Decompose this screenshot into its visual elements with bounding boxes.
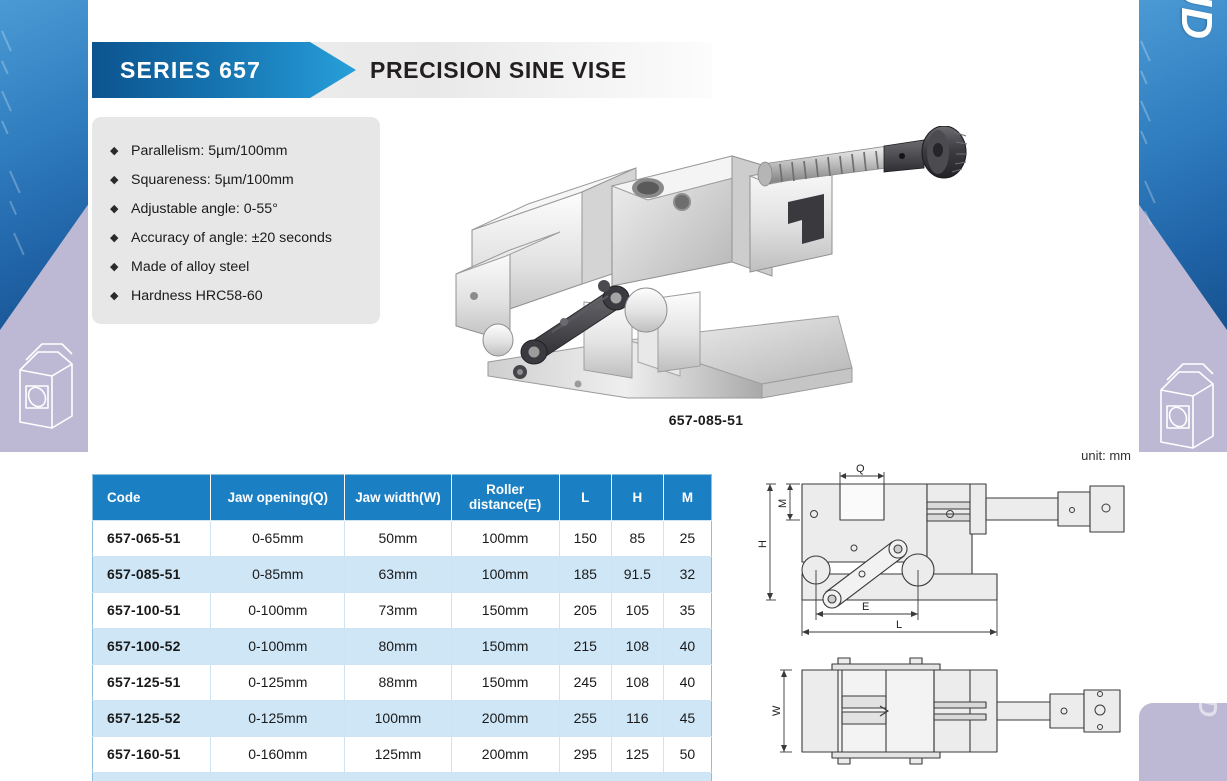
left-brand-logo: ACCUD (0, 38, 6, 202)
list-item: ◆ Adjustable angle: 0-55° (110, 201, 380, 217)
cell-jaw-opening: 0-160mm (211, 736, 345, 772)
product-photo (432, 126, 980, 404)
catalog-page: ACCUD ACCUD (0, 0, 1227, 781)
column-header-roller-distance: Roller distance(E) (451, 475, 559, 521)
cell-m: 35 (663, 592, 711, 628)
feature-list: ◆ Parallelism: 5µm/100mm ◆ Squareness: 5… (92, 117, 380, 324)
table-row: 657-100-51 0-100mm 73mm 150mm 205 105 35 (93, 592, 712, 628)
cell-h: 108 (611, 628, 663, 664)
cell-jaw-width: 80mm (345, 628, 451, 664)
column-header-jaw-width: Jaw width(W) (345, 475, 451, 521)
series-label: SERIES 657 (120, 57, 261, 84)
cell-m: 32 (663, 556, 711, 592)
cell-l: 245 (559, 664, 611, 700)
cell-h: 85 (611, 520, 663, 556)
cell-jaw-opening: 0-100mm (211, 628, 345, 664)
cell-code: 657-085-51 (93, 556, 211, 592)
cell-roller-distance: 150mm (451, 592, 559, 628)
table-row: 657-085-51 0-85mm 63mm 100mm 185 91.5 32 (93, 556, 712, 592)
series-tab: SERIES 657 (92, 42, 356, 98)
dim-label-m: M (777, 499, 789, 508)
list-item: ◆ Squareness: 5µm/100mm (110, 172, 380, 188)
left-decorative-band: ACCUD (0, 0, 88, 781)
cell-l: 255 (559, 700, 611, 736)
column-header-l: L (559, 475, 611, 521)
header-banner: SERIES 657 PRECISION SINE VISE (92, 42, 712, 98)
table-header-row: Code Jaw opening(Q) Jaw width(W) Roller … (93, 475, 712, 521)
cell-jaw-opening: 0-65mm (211, 520, 345, 556)
cell-roller-distance: 100mm (451, 556, 559, 592)
left-ruler-marks (0, 0, 88, 330)
cell-roller-distance: 200mm (451, 772, 559, 781)
cell-h: 125 (611, 736, 663, 772)
unit-note: unit: mm (1081, 448, 1131, 463)
list-item: ◆ Parallelism: 5µm/100mm (110, 143, 380, 159)
dim-label-h: H (757, 540, 769, 548)
cell-m: 50 (663, 772, 711, 781)
list-item: ◆ Made of alloy steel (110, 259, 380, 275)
table-row: 657-125-51 0-125mm 88mm 150mm 245 108 40 (93, 664, 712, 700)
cell-jaw-opening: 0-125mm (211, 664, 345, 700)
table-row: 657-125-52 0-125mm 100mm 200mm 255 116 4… (93, 700, 712, 736)
page-title: PRECISION SINE VISE (370, 42, 627, 98)
cell-m: 25 (663, 520, 711, 556)
cell-jaw-opening: 0-85mm (211, 556, 345, 592)
cell-jaw-width: 73mm (345, 592, 451, 628)
table-row: 657-065-51 0-65mm 50mm 100mm 150 85 25 (93, 520, 712, 556)
cell-l: 215 (559, 628, 611, 664)
column-header-m: M (663, 475, 711, 521)
cell-roller-distance: 200mm (451, 700, 559, 736)
column-header-code: Code (93, 475, 211, 521)
right-decorative-band: ACCUD (1139, 0, 1227, 781)
cell-roller-distance: 150mm (451, 628, 559, 664)
cell-h: 91.5 (611, 556, 663, 592)
dim-label-w: W (771, 705, 783, 716)
feature-text: Hardness HRC58-60 (131, 288, 263, 304)
list-item: ◆ Accuracy of angle: ±20 seconds (110, 230, 380, 246)
photo-caption: 657-085-51 (432, 412, 980, 428)
right-brand-logo: ACCUD (1171, 0, 1221, 40)
cell-jaw-opening: 0-125mm (211, 700, 345, 736)
cell-jaw-width: 63mm (345, 556, 451, 592)
cell-code: 657-160-51 (93, 736, 211, 772)
cell-m: 45 (663, 700, 711, 736)
cell-l: 185 (559, 556, 611, 592)
cell-m: 40 (663, 628, 711, 664)
dim-label-l: L (896, 619, 902, 631)
cell-m: 50 (663, 736, 711, 772)
side-view-drawing: Q M H E (742, 462, 1142, 642)
cell-roller-distance: 200mm (451, 736, 559, 772)
cell-h: 125 (611, 772, 663, 781)
specification-table: Code Jaw opening(Q) Jaw width(W) Roller … (92, 474, 712, 781)
cell-code: 657-125-52 (93, 700, 211, 736)
cell-l: 315 (559, 772, 611, 781)
cell-code: 657-175-51 (93, 772, 211, 781)
diamond-bullet-icon: ◆ (110, 146, 122, 157)
cell-jaw-opening: 0-175mm (211, 772, 345, 781)
diamond-bullet-icon: ◆ (110, 175, 122, 186)
cell-code: 657-100-51 (93, 592, 211, 628)
feature-text: Parallelism: 5µm/100mm (131, 143, 287, 159)
corner-brand-logo: ACCUD (1192, 703, 1223, 717)
column-header-jaw-opening: Jaw opening(Q) (211, 475, 345, 521)
cell-m: 40 (663, 664, 711, 700)
cell-h: 105 (611, 592, 663, 628)
cell-code: 657-125-51 (93, 664, 211, 700)
right-ruler-marks (1139, 0, 1227, 330)
cell-jaw-opening: 0-100mm (211, 592, 345, 628)
cell-h: 116 (611, 700, 663, 736)
feature-text: Made of alloy steel (131, 259, 249, 275)
cell-code: 657-100-52 (93, 628, 211, 664)
cell-l: 295 (559, 736, 611, 772)
cell-jaw-width: 50mm (345, 520, 451, 556)
feature-text: Squareness: 5µm/100mm (131, 172, 294, 188)
cell-h: 108 (611, 664, 663, 700)
diamond-bullet-icon: ◆ (110, 262, 122, 273)
dim-label-e: E (862, 601, 869, 613)
vise-outline-icon (12, 330, 80, 440)
table-row: 657-175-51 0-175mm 150mm 200mm 315 125 5… (93, 772, 712, 781)
dim-label-q: Q (856, 463, 865, 475)
table-row: 657-160-51 0-160mm 125mm 200mm 295 125 5… (93, 736, 712, 772)
diamond-bullet-icon: ◆ (110, 204, 122, 215)
cell-roller-distance: 100mm (451, 520, 559, 556)
cell-l: 150 (559, 520, 611, 556)
feature-text: Adjustable angle: 0-55° (131, 201, 278, 217)
list-item: ◆ Hardness HRC58-60 (110, 288, 380, 304)
top-view-drawing: W (742, 650, 1142, 775)
cell-l: 205 (559, 592, 611, 628)
cell-jaw-width: 150mm (345, 772, 451, 781)
cell-code: 657-065-51 (93, 520, 211, 556)
diamond-bullet-icon: ◆ (110, 291, 122, 302)
cell-jaw-width: 88mm (345, 664, 451, 700)
corner-brand-badge: ACCUD (1139, 703, 1227, 781)
cell-jaw-width: 125mm (345, 736, 451, 772)
cell-jaw-width: 100mm (345, 700, 451, 736)
column-header-h: H (611, 475, 663, 521)
feature-text: Accuracy of angle: ±20 seconds (131, 230, 332, 246)
cell-roller-distance: 150mm (451, 664, 559, 700)
diamond-bullet-icon: ◆ (110, 233, 122, 244)
table-row: 657-100-52 0-100mm 80mm 150mm 215 108 40 (93, 628, 712, 664)
vise-outline-icon (1153, 350, 1221, 460)
